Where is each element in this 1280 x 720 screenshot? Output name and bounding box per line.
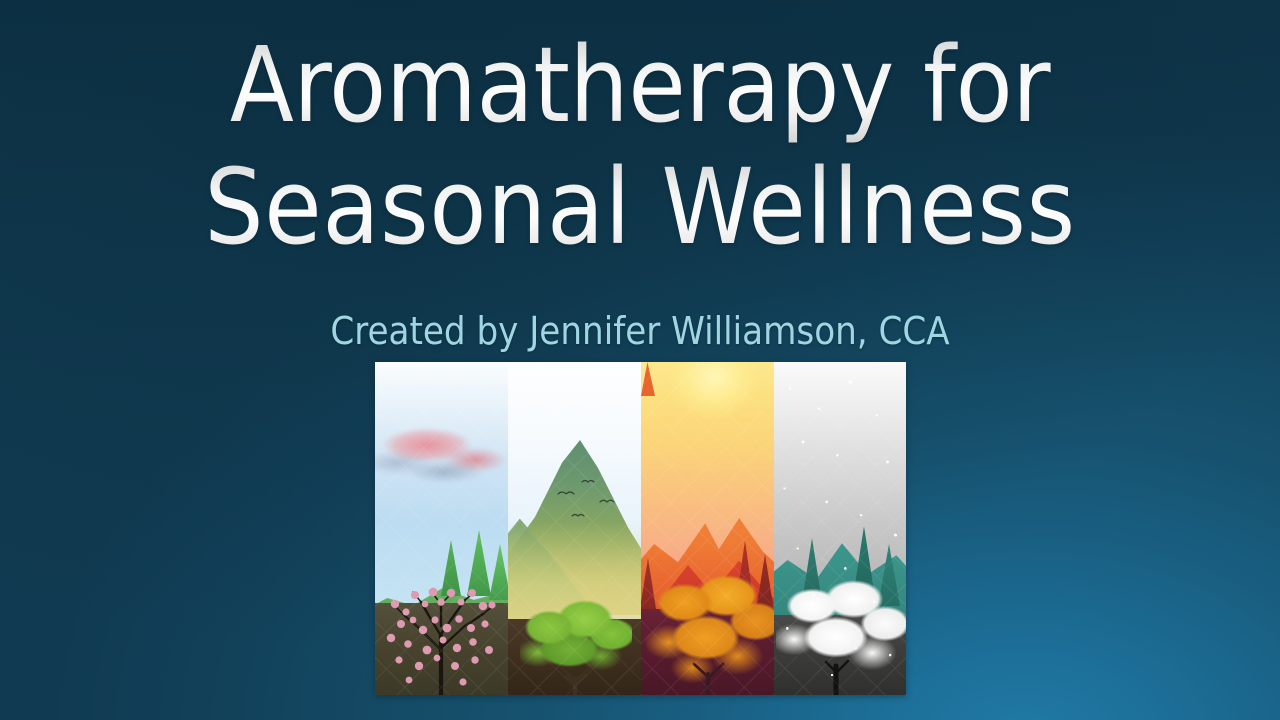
season-panel-summer bbox=[508, 362, 641, 695]
title-slide: Aromatherapy for Seasonal Wellness Creat… bbox=[0, 0, 1280, 720]
autumn-tree-trunk-icon bbox=[683, 658, 735, 695]
summer-birds-icon bbox=[548, 472, 628, 532]
four-seasons-image bbox=[375, 362, 906, 695]
spring-pink-clouds-icon bbox=[375, 414, 508, 488]
summer-tree-trunk-icon bbox=[552, 662, 600, 695]
spring-cherry-blossom-tree-icon bbox=[375, 562, 508, 695]
season-panel-autumn bbox=[641, 362, 774, 695]
autumn-sun-glow-icon bbox=[669, 362, 759, 418]
winter-snowfall-icon bbox=[774, 362, 906, 695]
slide-subtitle: Created by Jennifer Williamson, CCA bbox=[0, 306, 1280, 356]
season-panel-winter bbox=[774, 362, 906, 695]
slide-title: Aromatherapy for Seasonal Wellness bbox=[0, 24, 1280, 268]
title-line-1: Aromatherapy for bbox=[0, 24, 1280, 146]
title-line-2: Seasonal Wellness bbox=[0, 146, 1280, 268]
season-panel-spring bbox=[375, 362, 508, 695]
